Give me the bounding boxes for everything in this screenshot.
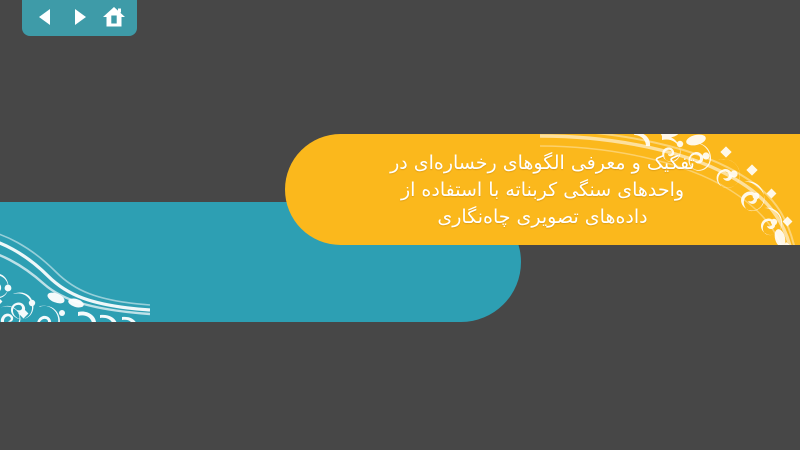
teal-band-arabesque-ornament-icon	[0, 202, 150, 322]
title-line-3: داده‌های تصویری چاه‌نگاری	[437, 204, 647, 231]
title-line-2: واحدهای سنگی کربناته با استفاده از	[401, 177, 684, 204]
home-button[interactable]	[100, 4, 128, 30]
previous-slide-button[interactable]	[31, 4, 59, 30]
title-line-1: تفکیک و معرفی الگوهای رخساره‌ای در	[390, 150, 695, 177]
slide-canvas: تفکیک و معرفی الگوهای رخساره‌ای در واحده…	[0, 0, 800, 450]
triangle-left-icon	[35, 7, 55, 27]
next-slide-button[interactable]	[66, 4, 94, 30]
home-icon	[102, 6, 126, 28]
slide-navigation-bar	[22, 0, 137, 36]
slide-title: تفکیک و معرفی الگوهای رخساره‌ای در واحده…	[285, 134, 800, 245]
triangle-right-icon	[70, 7, 90, 27]
